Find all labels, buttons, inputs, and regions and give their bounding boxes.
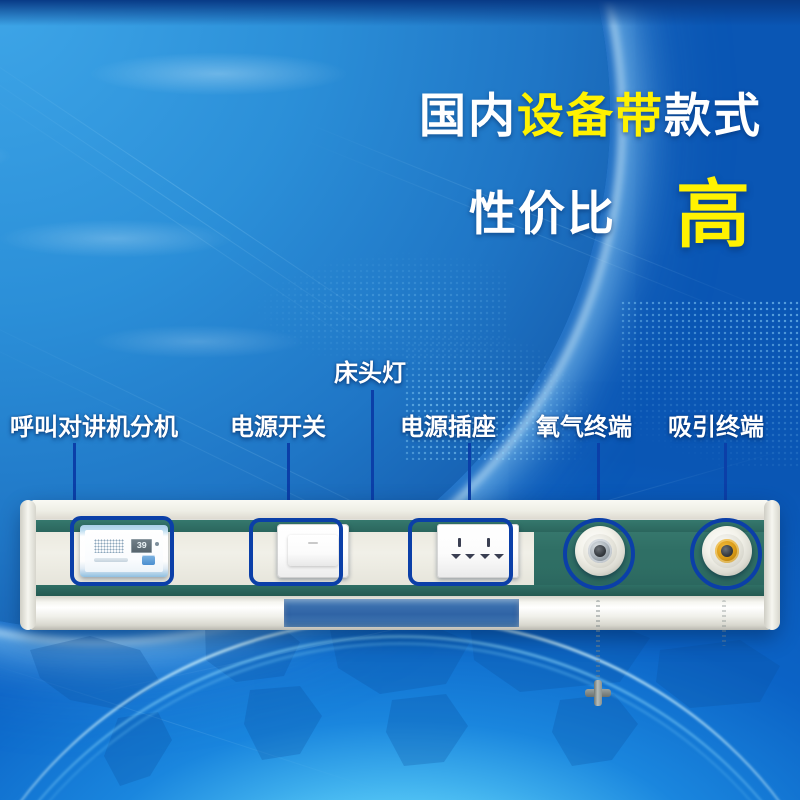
callout-label-suction: 吸引终端 — [668, 416, 764, 440]
callout-labels-group: 呼叫对讲机分机 电源开关 床头灯 电源插座 氧气终端 吸引终端 — [0, 0, 800, 480]
highlight-circle-oxygen — [563, 518, 635, 590]
highlight-box-power-socket — [408, 518, 513, 586]
callout-label-intercom: 呼叫对讲机分机 — [10, 416, 178, 440]
callout-label-power-socket: 电源插座 — [400, 416, 496, 440]
panel-end-cap-left — [20, 500, 36, 630]
promo-image-canvas: 国内设备带款式 性价比高 呼叫对讲机分机 电源开关 床头灯 电源插座 氧气终端 … — [0, 0, 800, 800]
callout-label-power-switch: 电源开关 — [230, 416, 326, 440]
cross-fitting-vertical — [594, 680, 602, 706]
suction-hose — [722, 600, 726, 646]
oxygen-hose — [596, 600, 600, 688]
highlight-box-power-switch — [249, 518, 343, 586]
bed-lamp-light-strip[interactable] — [284, 599, 519, 627]
highlight-circle-suction — [690, 518, 762, 590]
panel-stripe-bottom — [36, 585, 764, 596]
callout-label-bed-lamp: 床头灯 — [334, 362, 406, 386]
callout-label-oxygen: 氧气终端 — [536, 416, 632, 440]
panel-end-cap-right — [764, 500, 780, 630]
oxygen-hose-cross-fitting-icon — [585, 680, 611, 706]
highlight-box-intercom — [70, 516, 174, 586]
